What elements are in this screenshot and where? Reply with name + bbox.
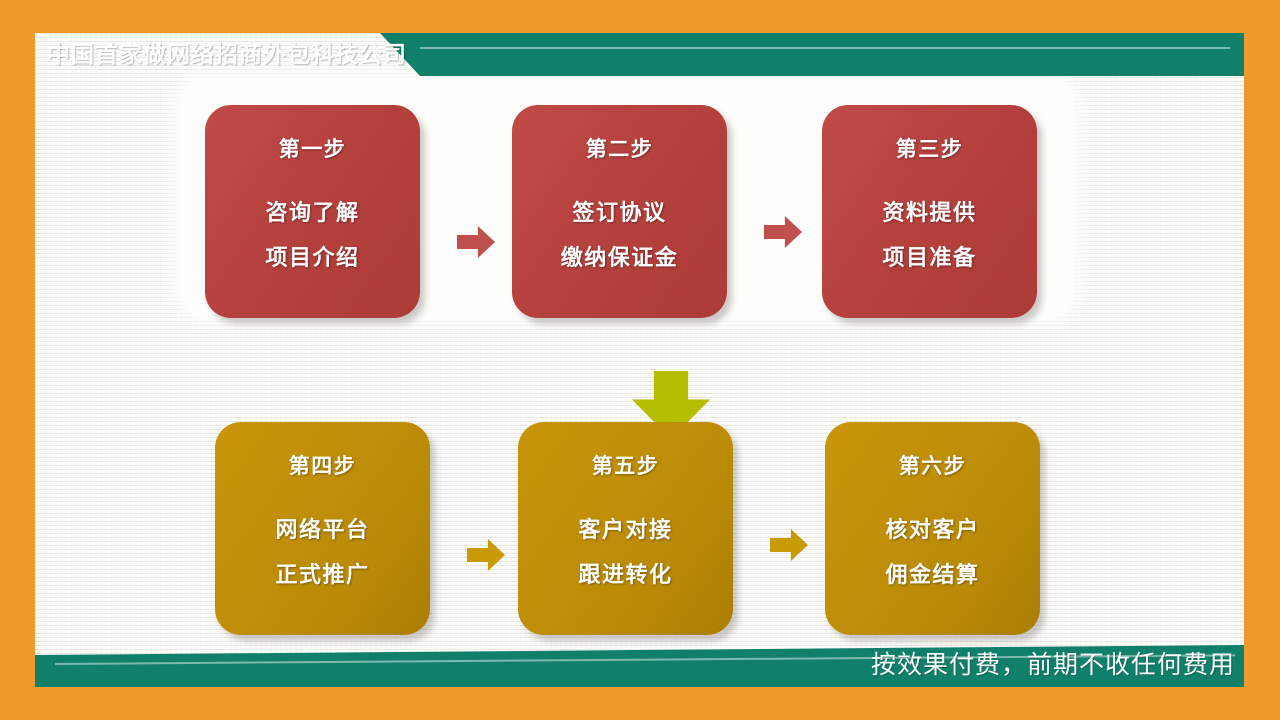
step-card-6-line-1: 核对客户 — [885, 512, 979, 544]
step-card-2[interactable]: 第二步 签订协议 缴纳保证金 — [512, 105, 727, 318]
arrow-right-icon-step4-step5 — [467, 539, 505, 571]
page-title: 中国首家做网络招商外包科技公司 — [47, 37, 407, 71]
step-card-3-line-1: 资料提供 — [882, 195, 976, 227]
step-card-1-line-1: 咨询了解 — [265, 195, 359, 227]
slide-canvas: 第一步 咨询了解 项目介绍 第二步 签订协议 缴纳保证金 第三步 资料提供 项目… — [35, 33, 1244, 687]
step-card-1-line-2: 项目介绍 — [265, 240, 359, 272]
step-card-1-title: 第一步 — [279, 133, 347, 163]
step-card-6[interactable]: 第六步 核对客户 佣金结算 — [825, 422, 1040, 635]
step-card-1-body: 咨询了解 项目介绍 — [265, 195, 359, 272]
step-card-1[interactable]: 第一步 咨询了解 项目介绍 — [205, 105, 420, 318]
step-card-3-title: 第三步 — [896, 133, 964, 163]
header-band-accent-line — [420, 47, 1230, 49]
step-card-4-line-1: 网络平台 — [275, 512, 369, 544]
step-card-3-body: 资料提供 项目准备 — [882, 195, 976, 272]
step-card-5-title: 第五步 — [592, 450, 660, 480]
step-card-4-body: 网络平台 正式推广 — [275, 512, 369, 589]
step-card-3[interactable]: 第三步 资料提供 项目准备 — [822, 105, 1037, 318]
step-card-3-line-2: 项目准备 — [882, 240, 976, 272]
step-card-2-line-2: 缴纳保证金 — [561, 240, 679, 272]
step-card-6-title: 第六步 — [899, 450, 967, 480]
step-card-2-body: 签订协议 缴纳保证金 — [561, 195, 679, 272]
footer-tagline: 按效果付费，前期不收任何费用 — [871, 648, 1235, 682]
step-card-2-title: 第二步 — [586, 133, 654, 163]
slide-root: 第一步 咨询了解 项目介绍 第二步 签订协议 缴纳保证金 第三步 资料提供 项目… — [0, 0, 1280, 720]
step-card-5[interactable]: 第五步 客户对接 跟进转化 — [518, 422, 733, 635]
step-card-5-line-1: 客户对接 — [578, 512, 672, 544]
step-card-5-line-2: 跟进转化 — [578, 557, 672, 589]
step-card-6-body: 核对客户 佣金结算 — [885, 512, 979, 589]
step-card-5-body: 客户对接 跟进转化 — [578, 512, 672, 589]
step-card-4-title: 第四步 — [289, 450, 357, 480]
step-card-2-line-1: 签订协议 — [572, 195, 666, 227]
arrow-right-icon-step5-step6 — [770, 529, 808, 561]
step-card-4-line-2: 正式推广 — [275, 557, 369, 589]
step-card-6-line-2: 佣金结算 — [885, 557, 979, 589]
step-card-4[interactable]: 第四步 网络平台 正式推广 — [215, 422, 430, 635]
